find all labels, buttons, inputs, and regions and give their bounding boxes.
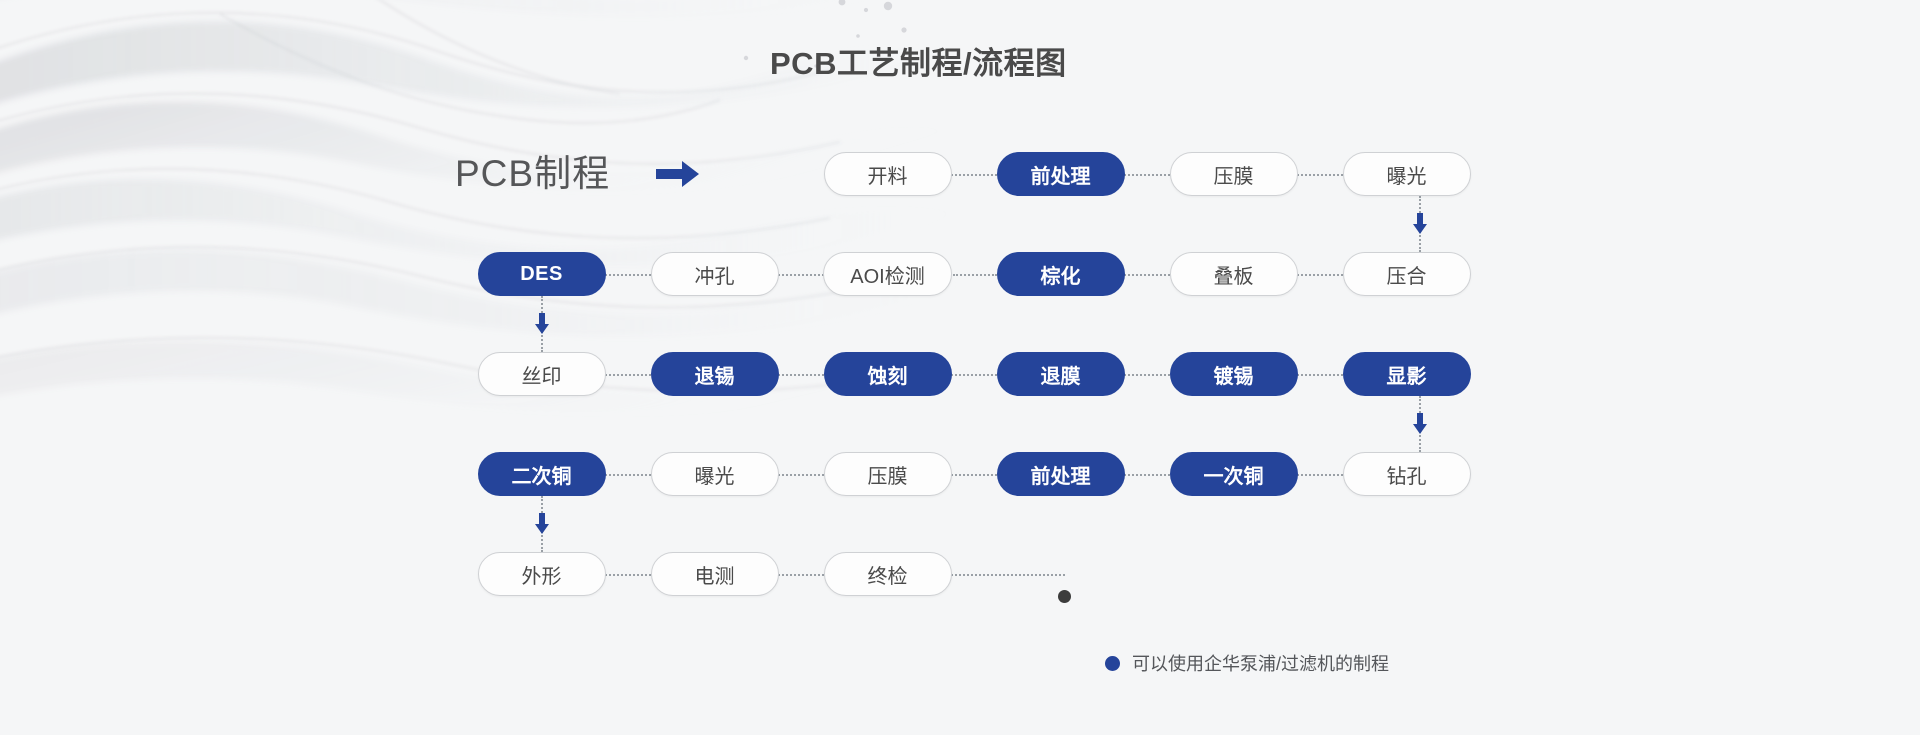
flow-node[interactable]: 二次铜 [455, 452, 628, 496]
connector-dots [948, 174, 1000, 176]
flow-node-label[interactable]: 开料 [824, 152, 952, 196]
flow-node-label[interactable]: AOI检测 [823, 252, 951, 296]
page-title: PCB工艺制程/流程图 [770, 38, 1067, 83]
connector-dots [775, 274, 827, 276]
connector-dots [1294, 174, 1346, 176]
connector-dots [1294, 374, 1346, 376]
connector-dots [775, 474, 827, 476]
row-link-4-to-5 [535, 496, 549, 552]
connector-dots [953, 274, 997, 276]
flow-node[interactable]: 压膜 [1147, 152, 1320, 196]
flow-node[interactable]: 外形 [455, 552, 628, 596]
flow-node-label[interactable]: 曝光 [651, 452, 779, 496]
flow-row-2: DES 冲孔 AOI检测 棕化 叠板 压合 [455, 252, 1490, 296]
arrow-down-icon [535, 313, 549, 335]
flow-node-label[interactable]: 压膜 [1170, 152, 1298, 196]
flow-node[interactable]: 蚀刻 [801, 352, 974, 396]
connector-dots [602, 274, 654, 276]
flow-node[interactable]: 镀锡 [1147, 352, 1320, 396]
flow-node[interactable]: AOI检测 [801, 252, 974, 296]
arrow-down-icon [1413, 213, 1427, 235]
flow-node-label[interactable]: 终检 [824, 552, 952, 596]
flow-node-label[interactable]: DES [478, 252, 606, 296]
flow-node[interactable]: 前处理 [974, 452, 1147, 496]
flow-row-5: 外形 电测 终检 [455, 552, 1490, 596]
flow-node-label[interactable]: 一次铜 [1170, 452, 1298, 496]
connector-dots [948, 374, 1000, 376]
flow-node-label[interactable]: 叠板 [1170, 252, 1298, 296]
flow-node-label[interactable]: 压膜 [824, 452, 952, 496]
flow-node[interactable]: 退锡 [628, 352, 801, 396]
flow-node[interactable]: 终检 [801, 552, 974, 596]
connector-dots [948, 574, 1065, 576]
connector-dots [775, 374, 827, 376]
flow-row-4: 二次铜 曝光 压膜 前处理 一次铜 钻孔 [455, 452, 1490, 496]
connector-dots [602, 574, 654, 576]
flow-node-label[interactable]: 棕化 [997, 252, 1125, 296]
connector-dots [602, 474, 654, 476]
connector-dots [1121, 374, 1173, 376]
flow-node[interactable]: 压膜 [801, 452, 974, 496]
flow-node[interactable]: 钻孔 [1320, 452, 1493, 496]
flow-node[interactable]: 电测 [628, 552, 801, 596]
process-flow-diagram: 开料 前处理 压膜 曝光 DES 冲孔 [455, 140, 1490, 570]
flow-node-label[interactable]: 曝光 [1343, 152, 1471, 196]
row-link-3-to-4 [1413, 396, 1427, 452]
connector-dots [1121, 174, 1173, 176]
flow-node[interactable]: 退膜 [974, 352, 1147, 396]
arrow-down-icon [535, 513, 549, 535]
flow-node[interactable]: 前处理 [974, 152, 1147, 196]
connector-dots [1121, 274, 1173, 276]
flow-node-label[interactable]: 显影 [1343, 352, 1471, 396]
flow-node-label[interactable]: 前处理 [997, 452, 1125, 496]
arrow-down-icon [1413, 413, 1427, 435]
connector-dots [775, 574, 827, 576]
flow-node[interactable]: DES [455, 252, 628, 296]
flow-node-label[interactable]: 丝印 [478, 352, 606, 396]
connector-dots [948, 474, 1000, 476]
connector-dots [602, 374, 654, 376]
flow-node-label[interactable]: 蚀刻 [824, 352, 952, 396]
flow-node-label[interactable]: 电测 [651, 552, 779, 596]
flow-row-1: 开料 前处理 压膜 曝光 [455, 152, 1490, 196]
pcb-process-flow-page: PCB工艺制程/流程图 PCB制程 开料 前处理 压膜 曝 [0, 0, 1920, 735]
flow-node[interactable]: 棕化 [974, 252, 1147, 296]
flow-node-label[interactable]: 镀锡 [1170, 352, 1298, 396]
flow-node[interactable]: 丝印 [455, 352, 628, 396]
flow-node[interactable]: 一次铜 [1147, 452, 1320, 496]
connector-dots [1294, 274, 1346, 276]
filled-circle-icon [1105, 656, 1120, 671]
connector-dots [1294, 474, 1346, 476]
flow-node-label[interactable]: 二次铜 [478, 452, 606, 496]
flow-node-label[interactable]: 外形 [478, 552, 606, 596]
flow-node-label[interactable]: 压合 [1343, 252, 1471, 296]
flow-node[interactable]: 曝光 [1320, 152, 1493, 196]
flow-node[interactable]: 冲孔 [628, 252, 801, 296]
legend-label: 可以使用企华泵浦/过滤机的制程 [1132, 650, 1389, 676]
connector-dots [1121, 474, 1173, 476]
flow-node[interactable]: 显影 [1320, 352, 1493, 396]
flow-node[interactable]: 曝光 [628, 452, 801, 496]
row-link-1-to-2 [1413, 196, 1427, 252]
flow-node-label[interactable]: 退锡 [651, 352, 779, 396]
flow-node-label[interactable]: 前处理 [997, 152, 1125, 196]
row-link-2-to-3 [535, 296, 549, 352]
flow-node-label[interactable]: 冲孔 [651, 252, 779, 296]
flow-node[interactable]: 开料 [801, 152, 974, 196]
flow-node[interactable]: 叠板 [1147, 252, 1320, 296]
flow-node[interactable]: 压合 [1320, 252, 1493, 296]
flow-node-label[interactable]: 钻孔 [1343, 452, 1471, 496]
legend: 可以使用企华泵浦/过滤机的制程 [1105, 650, 1389, 676]
flow-node-label[interactable]: 退膜 [997, 352, 1125, 396]
flow-row-3: 丝印 退锡 蚀刻 退膜 镀锡 显影 [455, 352, 1490, 396]
flow-end-dot-icon [1058, 590, 1071, 603]
